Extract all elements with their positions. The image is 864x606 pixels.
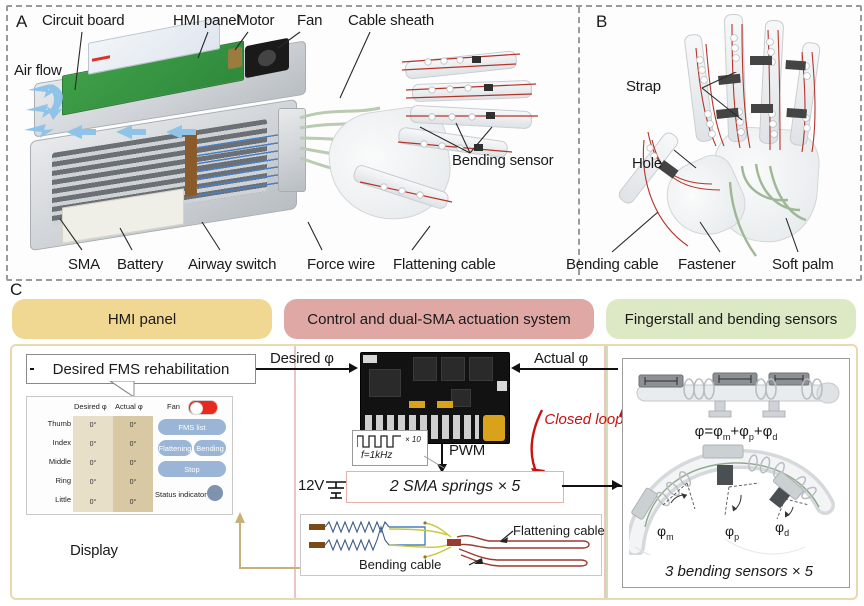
pcb-chip-2 [441, 357, 465, 381]
eq-sub-m: m [723, 432, 731, 442]
hmi-row-label-middle: Middle [29, 457, 71, 466]
hmi-cell-desired-thumb: 0° [73, 416, 113, 435]
hmi-mock-panel[interactable]: Desired φ Actual φ Thumb 0° 0° Index 0° … [26, 396, 233, 515]
cable-sub-figure: Flattening cable Bending cable [300, 514, 602, 576]
hmi-row-label-ring: Ring [29, 476, 71, 485]
panel-c-content-box: Desired FMS rehabilitation Desired φ Act… [10, 344, 858, 600]
eq-lhs: φ [695, 423, 705, 440]
panel-b-bottom-leaders [560, 190, 860, 256]
status-indicator-label: Status indicator [155, 490, 207, 499]
sma-springs-box: 2 SMA springs × 5 [346, 471, 564, 503]
button-flattening[interactable]: Flattening [158, 440, 192, 456]
actual-phi-line [520, 368, 618, 370]
panel-c: C HMI panel Control and dual-SMA actuati… [0, 282, 864, 606]
panel-a-letter: A [16, 12, 27, 32]
angle-label-d: φd [775, 519, 789, 538]
sma-to-fingerstall-arrowhead [612, 480, 621, 490]
desired-phi-line [256, 368, 350, 370]
label-force-wire: Force wire [307, 256, 375, 273]
desired-phi-arrowhead [349, 363, 358, 373]
angle-label-p: φp [725, 523, 739, 542]
hmi-cell-actual-index: 0° [113, 435, 153, 454]
pcb-connector-left [363, 355, 377, 363]
label-bending-cable-c: Bending cable [359, 557, 441, 572]
label-battery: Battery [117, 256, 163, 273]
fingerstall-sub-figure: φ=φm+φp+φd [622, 358, 850, 588]
label-hole: Hole [632, 155, 662, 172]
label-display: Display [70, 542, 118, 559]
status-indicator-dot [207, 485, 223, 501]
pwm-waveform-box: × 10 f=1kHz [352, 430, 428, 466]
label-bending-cable-b: Bending cable [566, 256, 658, 273]
pwm-frequency: f=1kHz [361, 450, 392, 461]
angle-sub-m: m [666, 532, 674, 542]
hmi-row-label-index: Index [29, 438, 71, 447]
hmi-cell-actual-thumb: 0° [113, 416, 153, 435]
hmi-cell-actual-middle: 0° [113, 454, 153, 473]
eq-phi-d: φ [763, 423, 773, 440]
angle-phi-p: φ [725, 523, 734, 539]
label-flattening-cable-c: Flattening cable [513, 523, 605, 538]
label-airway-switch: Airway switch [188, 256, 276, 273]
hmi-row-label-little: Little [29, 495, 71, 504]
hmi-cell-desired-index: 0° [73, 435, 113, 454]
hmi-row-label-thumb: Thumb [29, 419, 71, 428]
panel-b-letter: B [596, 12, 607, 32]
pcb-chip-3 [469, 357, 493, 381]
desired-phi-line-stub [30, 368, 34, 370]
pwm-multiplier: × 10 [405, 435, 421, 444]
pcb-connector-right [497, 381, 507, 391]
angle-label-m: φm [657, 523, 674, 542]
label-flattening-cable: Flattening cable [393, 256, 496, 273]
label-soft-palm: Soft palm [772, 256, 834, 273]
label-sma: SMA [68, 256, 100, 273]
panel-a-bottom-leaders [60, 186, 480, 256]
hmi-cell-actual-ring: 0° [113, 473, 153, 492]
button-fms-list[interactable]: FMS list [158, 419, 226, 435]
hmi-header-desired: Desired φ [74, 402, 107, 411]
panel-a-top-leaders [30, 26, 450, 136]
actual-phi-arrowhead [511, 363, 520, 373]
angle-phi-d: φ [775, 519, 784, 535]
pcb-orange-connector [483, 415, 505, 441]
eq-sub-d: d [772, 432, 777, 442]
fingerstall-equation: φ=φm+φp+φd [623, 423, 849, 442]
label-fastener: Fastener [678, 256, 736, 273]
pcb-gold-pad-1 [409, 401, 425, 408]
eq-sub-p: p [749, 432, 754, 442]
fingerstall-caption: 3 bending sensors × 5 [665, 563, 813, 580]
angle-phi-m: φ [657, 523, 666, 539]
pcb-chip-4 [451, 389, 471, 407]
panel-c-letter: C [10, 280, 22, 300]
pwm-waveform-icon [357, 434, 405, 448]
category-bar-fingerstall: Fingerstall and bending sensors [606, 299, 856, 339]
label-strap: Strap [626, 78, 661, 95]
panel-b-leaders [660, 72, 780, 182]
button-bending[interactable]: Bending [194, 440, 226, 456]
label-desired-phi: Desired φ [270, 350, 334, 367]
fan-toggle-knob [190, 402, 203, 415]
ground-symbol [326, 474, 360, 506]
bending-sensor-leaders [400, 105, 530, 161]
fan-toggle[interactable] [188, 400, 218, 415]
hmi-header-actual: Actual φ [115, 402, 143, 411]
hmi-cell-desired-little: 0° [73, 492, 113, 512]
pwm-box-pointer [422, 454, 450, 472]
category-bar-control: Control and dual-SMA actuation system [284, 299, 594, 339]
pcb-mcu-chip [369, 369, 401, 397]
angle-sub-p: p [734, 532, 739, 542]
callout-desired-fms: Desired FMS rehabilitation [26, 354, 256, 384]
pcb-chip-1 [413, 357, 437, 381]
hmi-fan-label: Fan [167, 402, 180, 411]
label-pwm: PWM [449, 442, 485, 459]
category-bar-hmi: HMI panel [12, 299, 272, 339]
angle-sub-d: d [784, 528, 789, 538]
label-12v: 12V [298, 477, 324, 494]
button-stop[interactable]: Stop [158, 461, 226, 477]
hmi-cell-desired-middle: 0° [73, 454, 113, 473]
pcb-gold-pad-2 [437, 401, 453, 408]
eq-phi-m: φ [713, 423, 723, 440]
fingerstall-straight-view [629, 363, 841, 421]
label-actual-phi: Actual φ [534, 350, 588, 367]
eq-phi-p: φ [739, 423, 749, 440]
hmi-cell-desired-ring: 0° [73, 473, 113, 492]
